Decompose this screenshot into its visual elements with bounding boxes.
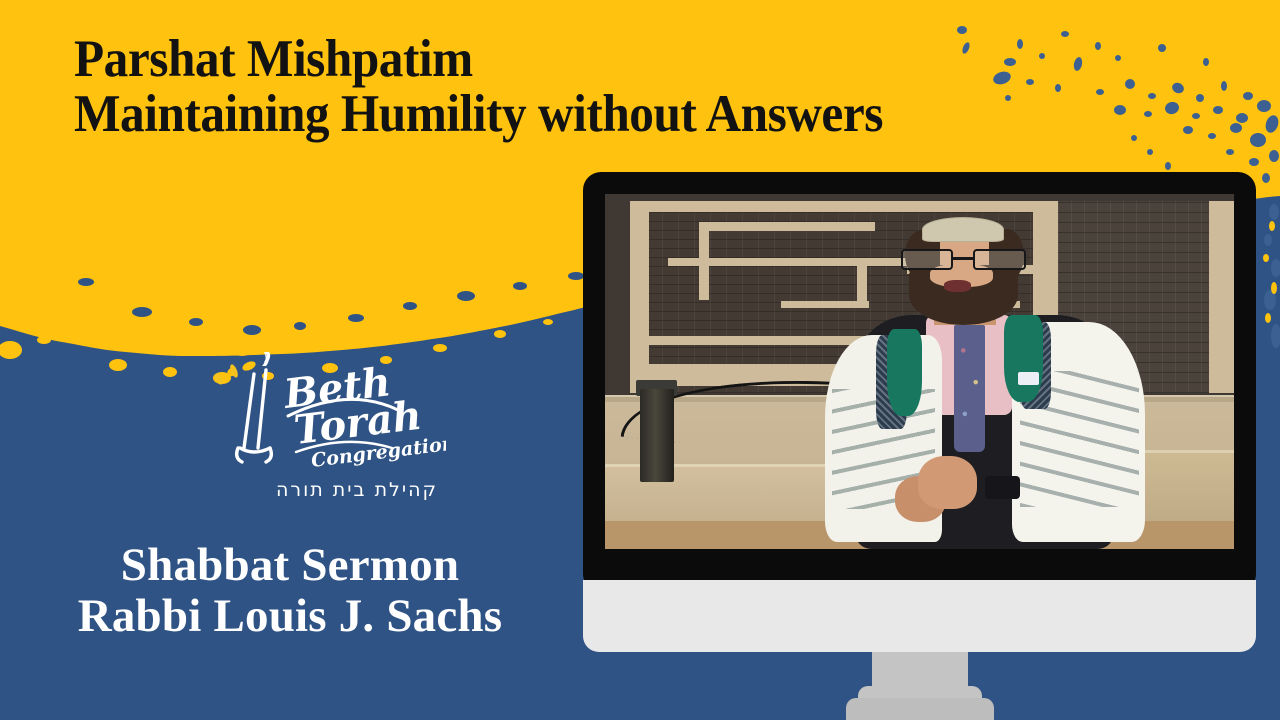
lens-right <box>973 249 1025 270</box>
congregation-logo: Beth Torah Congregation קהילת בית תורה <box>196 352 446 507</box>
caption-line-2: Rabbi Louis J. Sachs <box>0 591 580 642</box>
wristwatch <box>985 476 1020 499</box>
wall-trim <box>630 201 1033 212</box>
tumbler <box>640 389 674 481</box>
lens-left <box>901 249 953 270</box>
eyeglasses <box>901 249 1026 270</box>
monitor-bezel <box>583 172 1256 592</box>
hand-right <box>918 456 976 509</box>
necktie <box>954 325 985 452</box>
caption-line-1: Shabbat Sermon <box>0 540 580 591</box>
atarah-left <box>887 329 922 416</box>
lapel-pin <box>1018 372 1039 385</box>
kippah <box>922 217 1004 242</box>
glasses-bridge <box>953 257 973 259</box>
logo-hebrew: קהילת בית תורה <box>276 479 438 501</box>
sermon-video-still <box>605 194 1234 549</box>
atarah-right <box>1004 315 1043 402</box>
rabbi-figure <box>794 215 1184 549</box>
sermon-caption: Shabbat Sermon Rabbi Louis J. Sachs <box>0 540 580 642</box>
wall-trim <box>1209 201 1234 393</box>
monitor-stand-foot <box>846 698 994 720</box>
page-title: Parshat Mishpatim Maintaining Humility w… <box>74 34 1204 141</box>
video-screen[interactable] <box>605 194 1234 549</box>
mouth <box>944 280 971 291</box>
monitor-frame <box>583 172 1256 592</box>
title-line-2: Maintaining Humility without Answers <box>74 89 1125 141</box>
monitor-chin <box>583 580 1256 652</box>
slide-canvas: Parshat Mishpatim Maintaining Humility w… <box>0 0 1280 720</box>
title-line-1: Parshat Mishpatim <box>74 34 1125 86</box>
